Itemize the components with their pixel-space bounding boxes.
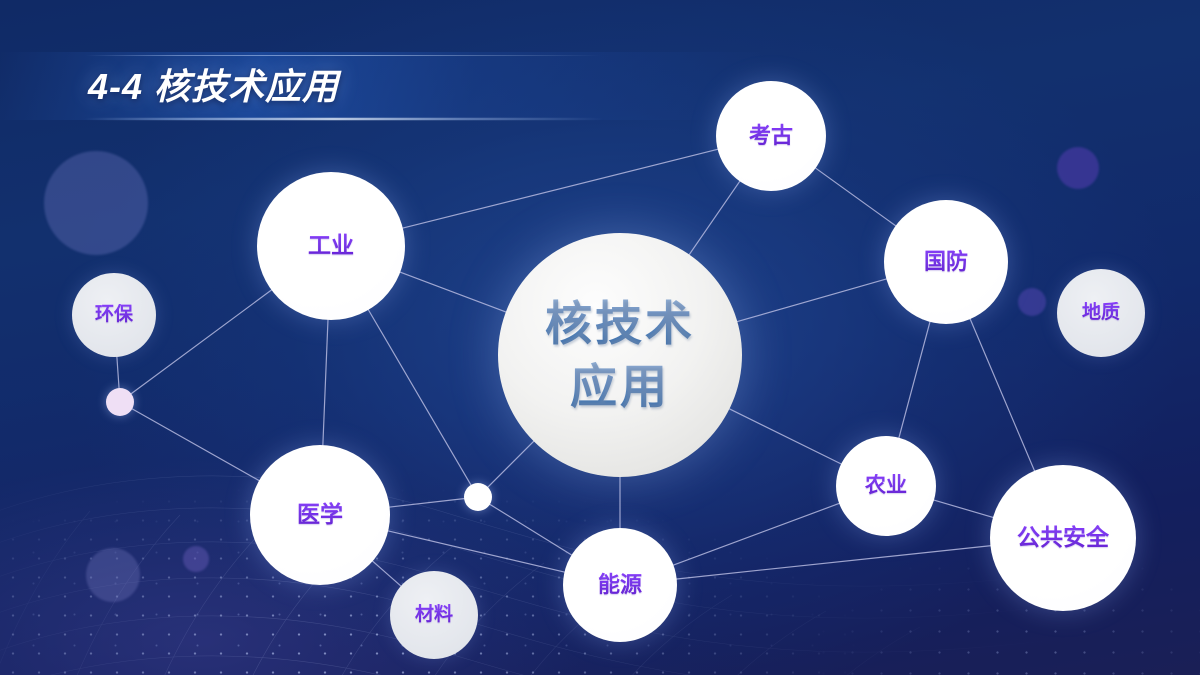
center-node-label-line1: 核技术 [545, 292, 695, 355]
blob-right-purple [1057, 147, 1099, 189]
junction-dot-hub-center-left[interactable] [464, 483, 492, 511]
edge-medicine-to-hub-center-left [389, 498, 466, 507]
node-public-safety[interactable]: 公共安全 [990, 465, 1136, 611]
background-dot-field [0, 435, 980, 675]
node-label-defense: 国防 [924, 249, 968, 275]
node-environment[interactable]: 环保 [72, 273, 156, 357]
page-title: 4-4 核技术应用 [88, 58, 339, 110]
edge-archaeology-to-industry [402, 149, 719, 228]
edge-energy-to-medicine [387, 531, 565, 573]
edge-agriculture-to-energy [672, 503, 840, 565]
edge-medicine-to-industry [323, 319, 328, 446]
edge-environment-to-hub-far-left [117, 356, 119, 389]
title-rule-top [86, 55, 601, 56]
title-rule-bottom [84, 118, 604, 120]
edge-industry-to-hub-center-left [368, 309, 472, 486]
edge-energy-to-hub-center-left [489, 504, 572, 556]
node-label-agriculture: 农业 [865, 474, 907, 499]
center-node-label-line2: 应用 [570, 355, 670, 418]
blob-bottom-left [86, 548, 140, 602]
node-energy[interactable]: 能源 [563, 528, 677, 642]
edge-center-to-hub-center-left [487, 441, 534, 488]
node-label-materials: 材料 [415, 604, 453, 626]
node-label-medicine: 医学 [297, 501, 343, 528]
node-label-geology: 地质 [1082, 302, 1120, 324]
blob-defense-gap [1018, 288, 1046, 316]
edge-agriculture-to-public-safety [933, 500, 994, 518]
edge-energy-to-public-safety [676, 546, 992, 579]
node-label-energy: 能源 [598, 572, 642, 598]
edge-defense-to-center [736, 279, 887, 322]
node-industry[interactable]: 工业 [257, 172, 405, 320]
node-agriculture[interactable]: 农业 [836, 436, 936, 536]
node-archaeology[interactable]: 考古 [716, 81, 826, 191]
blob-top-left [44, 151, 148, 255]
node-medicine[interactable]: 医学 [250, 445, 390, 585]
junction-dot-hub-far-left[interactable] [106, 388, 134, 416]
edge-archaeology-to-center [689, 180, 741, 255]
node-geology[interactable]: 地质 [1057, 269, 1145, 357]
edge-defense-to-agriculture [899, 321, 931, 439]
edge-industry-to-center [399, 272, 506, 313]
edge-archaeology-to-defense [815, 168, 897, 227]
node-defense[interactable]: 国防 [884, 200, 1008, 324]
slide-canvas: 4-4 核技术应用 核技术 应用 考古工业国防环保地质农业医学公共安全能源材料 [0, 0, 1200, 675]
edge-defense-to-public-safety [970, 318, 1035, 472]
node-label-archaeology: 考古 [749, 123, 793, 149]
background-dot-field-right [780, 495, 1200, 675]
center-node-nuclear-technology-application[interactable]: 核技术 应用 [498, 233, 742, 477]
edge-medicine-to-hub-far-left [131, 408, 260, 481]
node-label-environment: 环保 [95, 304, 133, 326]
node-label-public-safety: 公共安全 [1017, 524, 1109, 551]
node-materials[interactable]: 材料 [390, 571, 478, 659]
edge-agriculture-to-center [729, 408, 842, 464]
node-label-industry: 工业 [308, 232, 354, 259]
edge-medicine-to-materials [372, 561, 402, 587]
blob-bottom-mid [183, 546, 209, 572]
